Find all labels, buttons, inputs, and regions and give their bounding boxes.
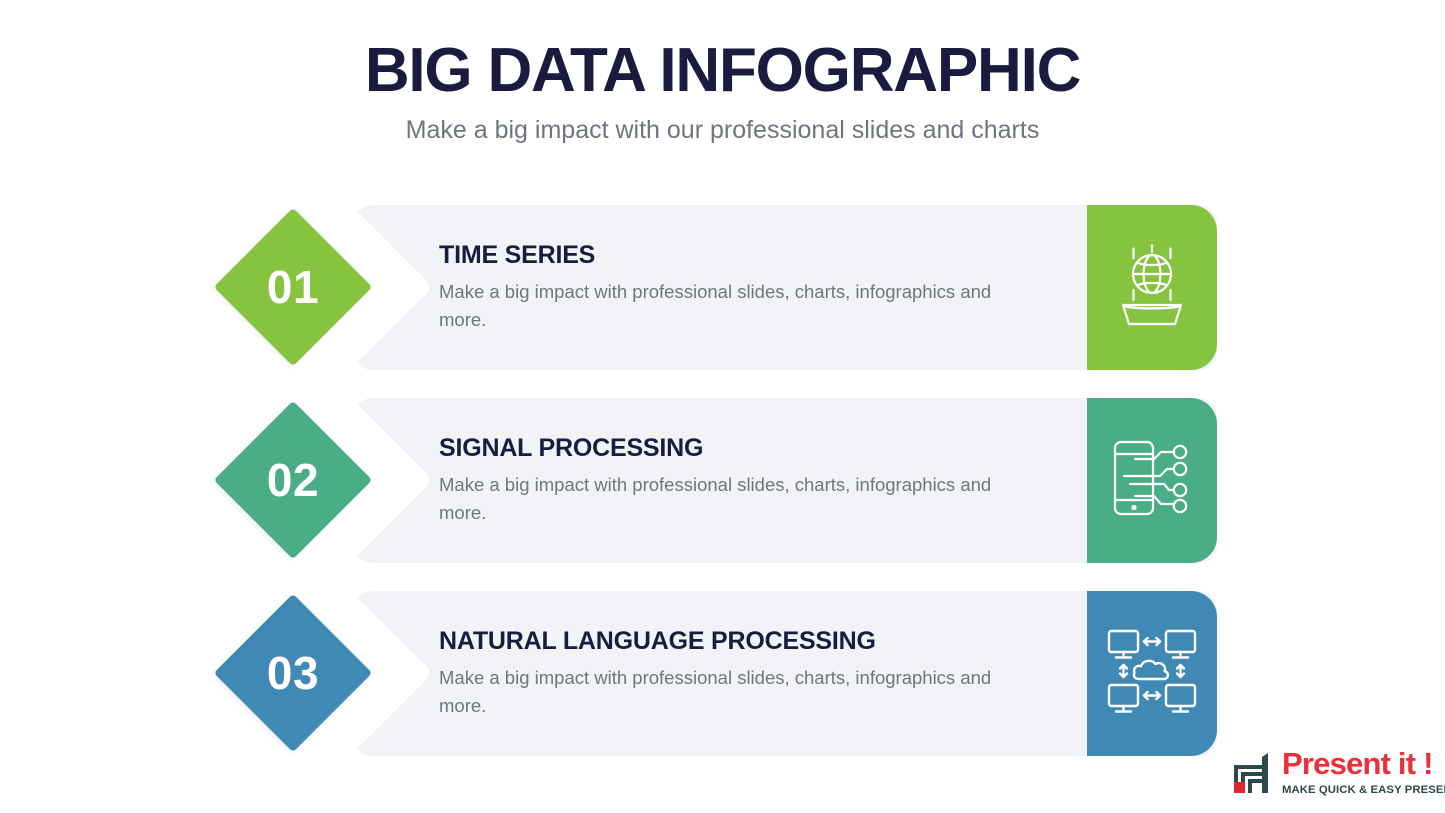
row-number-diamond: [214, 401, 372, 559]
smartphone-circuit-signal-icon: [1110, 438, 1194, 523]
row-heading: NATURAL LANGUAGE PROCESSING: [439, 628, 1079, 656]
row-description: Make a big impact with professional slid…: [439, 664, 1017, 719]
row-text-block: TIME SERIES Make a big impact with profe…: [439, 205, 1079, 370]
infographic-row: TIME SERIES Make a big impact with profe…: [237, 205, 1217, 370]
cloud-network-monitors-icon: [1106, 627, 1198, 720]
row-description: Make a big impact with professional slid…: [439, 471, 1017, 526]
infographic-row: SIGNAL PROCESSING Make a big impact with…: [237, 398, 1217, 563]
brand-logo: Present it ! MAKE QUICK & EASY PRESENTAT…: [1232, 748, 1438, 800]
row-number-diamond: [214, 208, 372, 366]
row-text-block: SIGNAL PROCESSING Make a big impact with…: [439, 398, 1079, 563]
row-heading: TIME SERIES: [439, 242, 1079, 270]
page-title: BIG DATA INFOGRAPHIC: [0, 38, 1445, 103]
brand-logo-text: Present it ! MAKE QUICK & EASY PRESENTAT…: [1282, 748, 1438, 796]
row-icon-panel: [1087, 591, 1217, 756]
brand-tagline: MAKE QUICK & EASY PRESENTATIONS: [1282, 784, 1438, 796]
globe-hologram-projector-icon: [1115, 243, 1189, 332]
page-header: BIG DATA INFOGRAPHIC Make a big impact w…: [0, 38, 1445, 145]
row-description: Make a big impact with professional slid…: [439, 278, 1017, 333]
page-subtitle: Make a big impact with our professional …: [0, 115, 1445, 145]
brand-name: Present it !: [1282, 748, 1438, 781]
present-it-logo-mark-icon: [1232, 751, 1276, 795]
row-heading: SIGNAL PROCESSING: [439, 435, 1079, 463]
row-number-diamond: [214, 594, 372, 752]
row-text-block: NATURAL LANGUAGE PROCESSING Make a big i…: [439, 591, 1079, 756]
row-icon-panel: [1087, 398, 1217, 563]
row-icon-panel: [1087, 205, 1217, 370]
infographic-row: NATURAL LANGUAGE PROCESSING Make a big i…: [237, 591, 1217, 756]
